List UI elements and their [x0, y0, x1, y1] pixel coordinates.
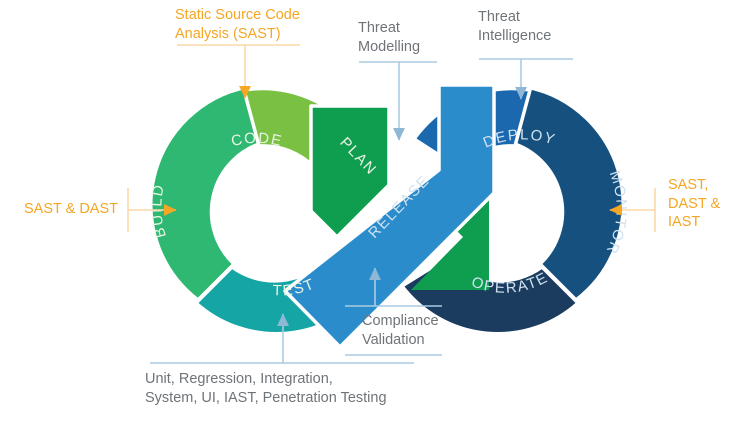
- devsecops-diagram: CODE BUILD TEST PLAN RELEASE DEPLOY MONI…: [0, 0, 741, 423]
- annotation-sast-dast: SAST & DAST: [24, 200, 144, 219]
- annotation-threat-intelligence: Threat Intelligence: [478, 8, 598, 45]
- annotation-sast-dast-iast: SAST, DAST & IAST: [668, 176, 741, 232]
- segment-build[interactable]: [151, 87, 262, 300]
- annotation-compliance-validation: Compliance Validation: [362, 312, 492, 349]
- annotation-threat-modelling: Threat Modelling: [358, 19, 468, 56]
- segment-monitor[interactable]: [512, 87, 623, 300]
- annotation-static-source-code: Static Source Code Analysis (SAST): [175, 6, 355, 43]
- segment-label-code: CODE: [230, 130, 285, 150]
- annotation-testing-types: Unit, Regression, Integration, System, U…: [145, 370, 455, 407]
